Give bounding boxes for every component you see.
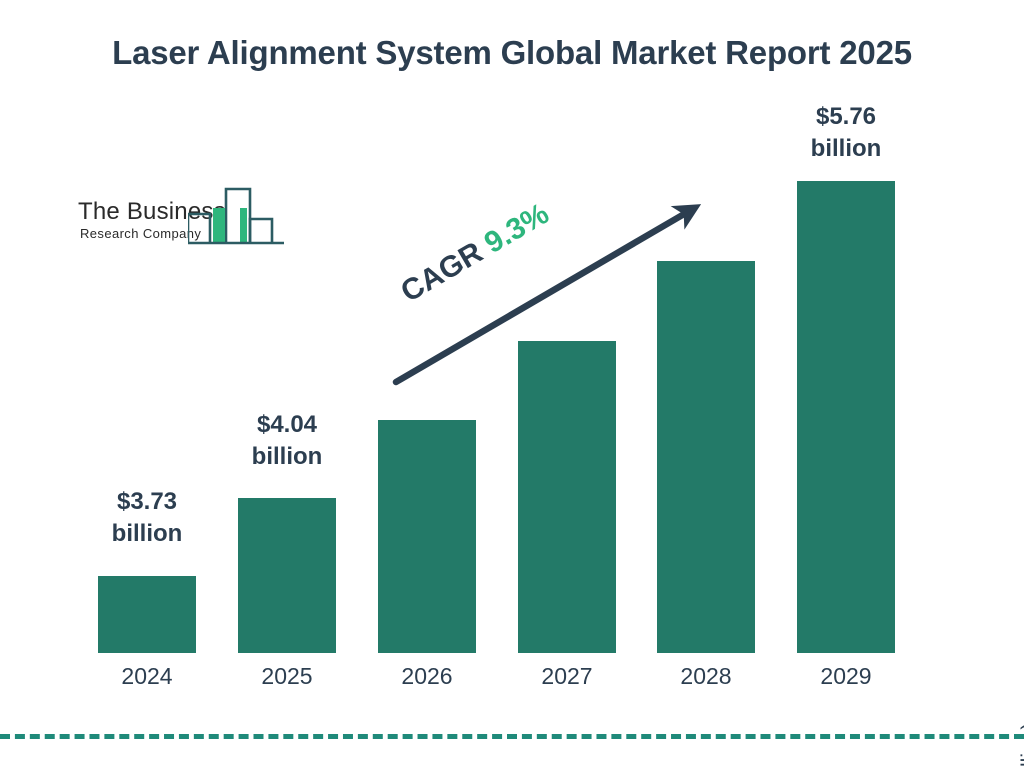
x-tick-2029: 2029 (797, 663, 895, 690)
bar-2027 (518, 341, 616, 653)
bar-chart-plot-area: $3.73 billion $4.04 billion $5.76 billio… (0, 0, 1024, 768)
bar-2028 (657, 261, 755, 653)
x-tick-2025: 2025 (238, 663, 336, 690)
bar-2026 (378, 420, 476, 653)
bar-value-label-2024: $3.73 billion (78, 486, 216, 550)
bar-value-label-2025: $4.04 billion (218, 409, 356, 473)
bar-value-label-2029: $5.76 billion (777, 101, 915, 165)
footer-divider (0, 734, 1024, 739)
bar-2025 (238, 498, 336, 653)
x-tick-2026: 2026 (378, 663, 476, 690)
cagr-label: CAGR 9.3% (395, 197, 555, 310)
bar-2029 (797, 181, 895, 653)
x-tick-2028: 2028 (657, 663, 755, 690)
y-axis-title: Market Size (in USD billion) (1018, 666, 1024, 768)
x-tick-2024: 2024 (98, 663, 196, 690)
bar-2024 (98, 576, 196, 653)
cagr-value: 9.3% (479, 197, 555, 260)
chart-canvas: Laser Alignment System Global Market Rep… (0, 0, 1024, 768)
x-tick-2027: 2027 (518, 663, 616, 690)
cagr-prefix: CAGR (395, 232, 495, 309)
